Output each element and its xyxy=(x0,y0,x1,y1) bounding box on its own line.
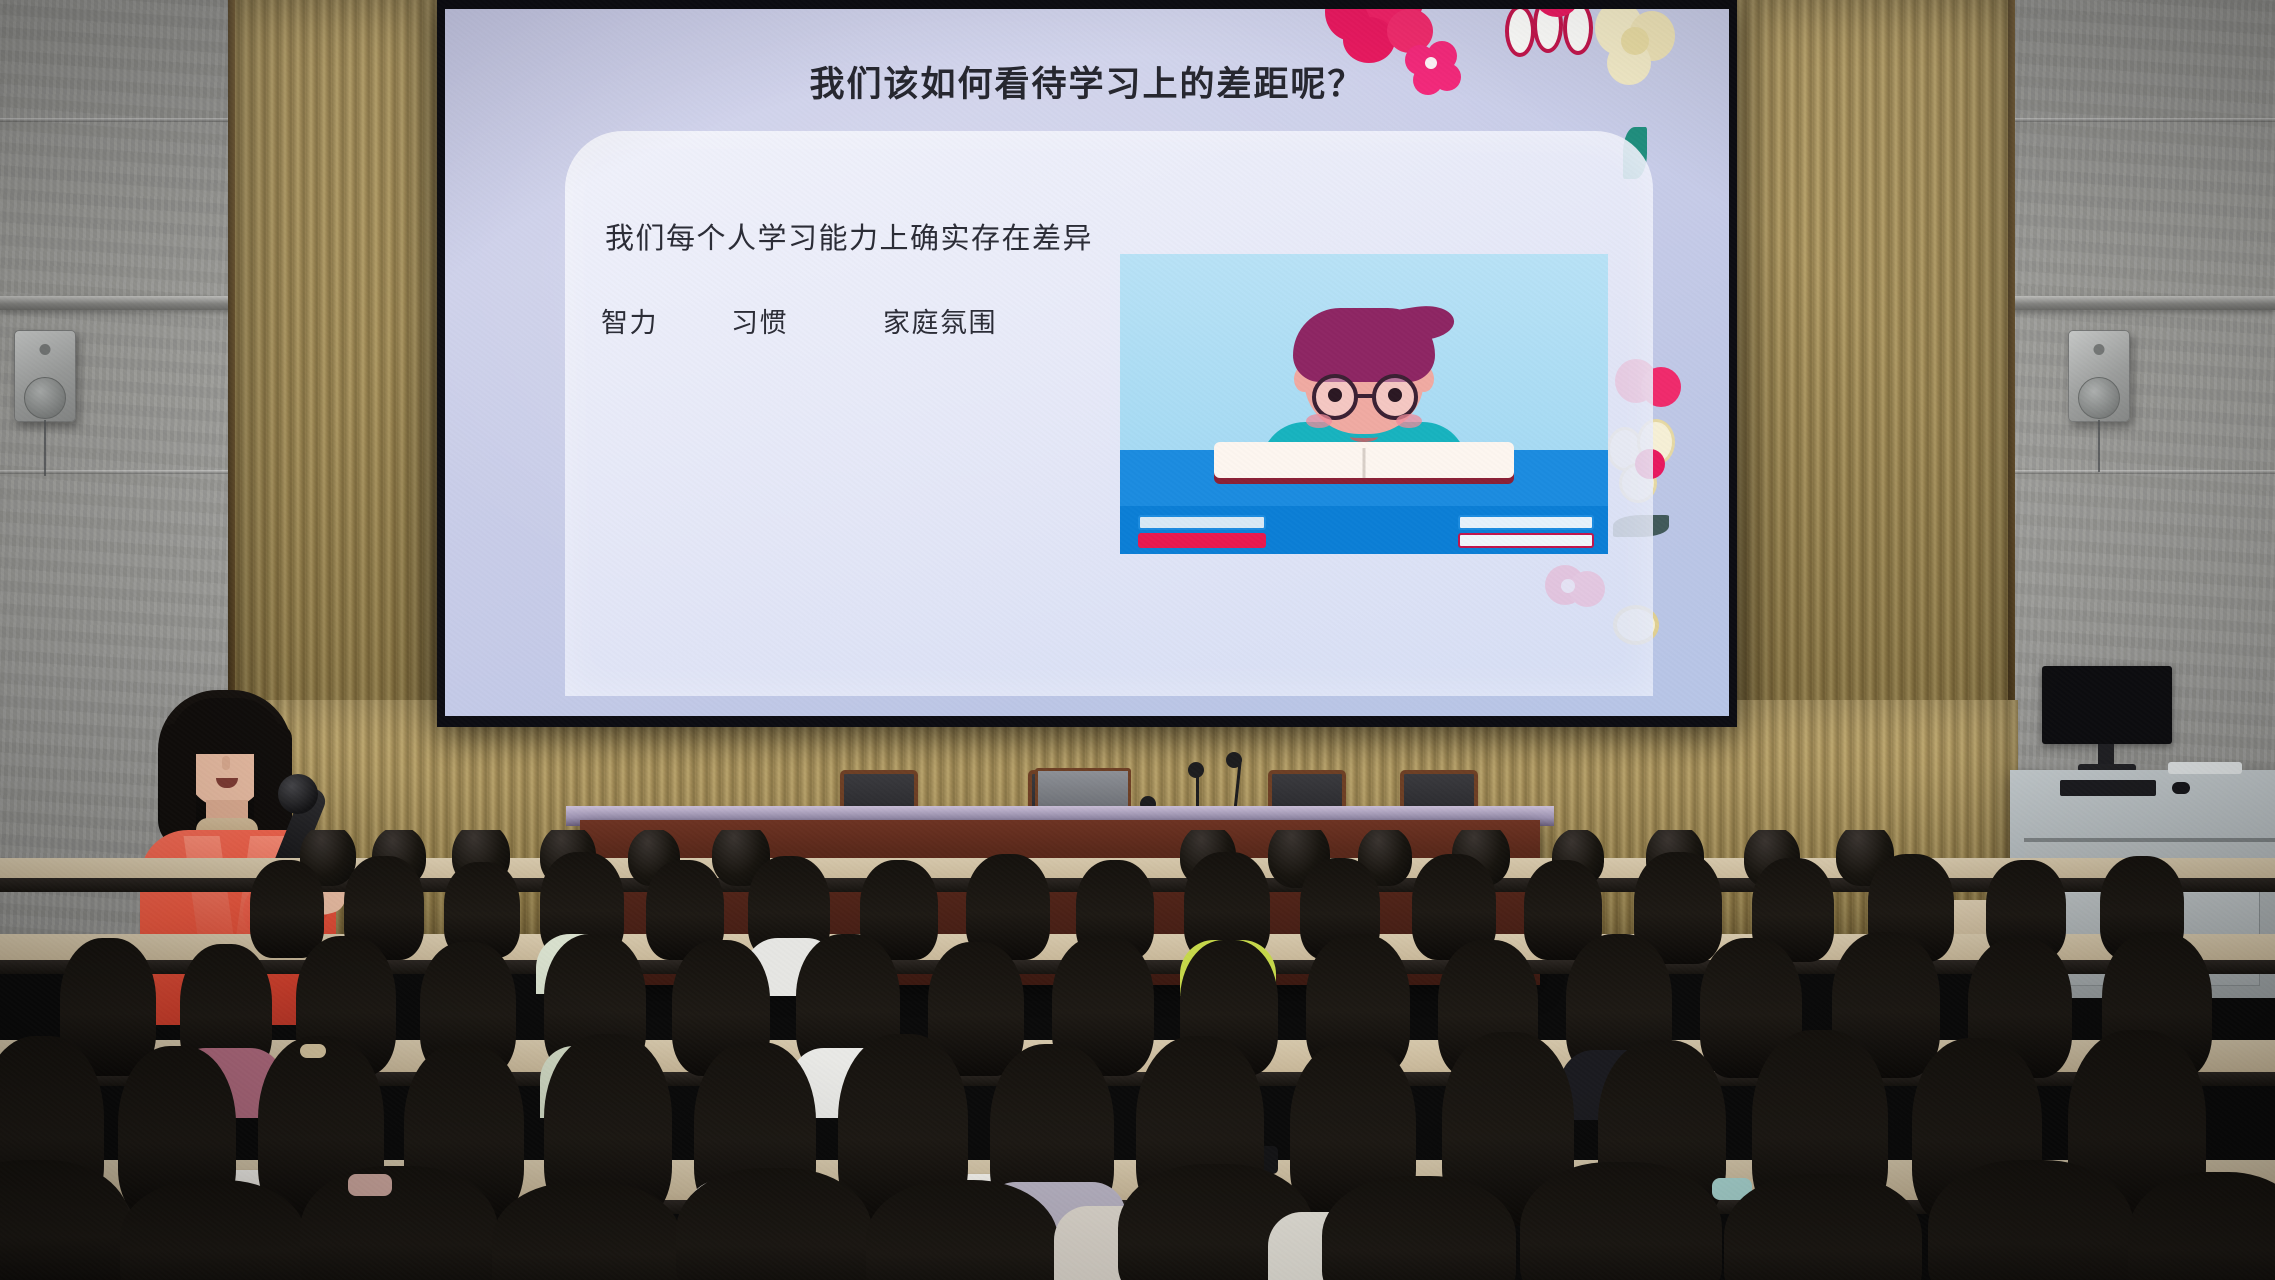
speaker-cone-icon xyxy=(24,377,66,419)
mouse xyxy=(2172,782,2190,794)
wood-slat-wall-right xyxy=(1735,0,2015,770)
speaker-cone-icon xyxy=(2078,377,2120,419)
slide-keyword-habit: 习惯 xyxy=(731,301,788,340)
hair-scrunchie xyxy=(300,1044,326,1058)
hair-scrunchie xyxy=(348,1174,392,1196)
cartoon-eye-right xyxy=(1388,388,1402,402)
speaker-cable xyxy=(2098,420,2100,472)
presenter-nose xyxy=(222,756,230,770)
student-hair xyxy=(676,1168,872,1280)
slide-keyword-intelligence: 智力 xyxy=(601,301,658,340)
cartoon-mouth xyxy=(1350,432,1378,442)
wood-slat-wall-left xyxy=(228,0,440,790)
student-hair xyxy=(1322,1176,1516,1280)
cable-box xyxy=(2168,762,2242,774)
handheld-microphone-head xyxy=(278,774,318,814)
speaker-tweeter-icon xyxy=(2094,344,2105,355)
slide-title: 我们该如何看待学习上的差距呢？ xyxy=(445,56,1729,107)
speaker-cable xyxy=(44,420,46,476)
glasses-bridge xyxy=(1357,394,1373,398)
student-audience xyxy=(0,830,2275,1280)
boom-microphone-head xyxy=(1226,752,1242,768)
student-hair xyxy=(1928,1160,2134,1280)
presentation-slide: 我们该如何看待学习上的差距呢？ 我们每个人学习能力上确实存在差异 智力 习惯 家… xyxy=(445,9,1729,716)
monitor-stand-neck xyxy=(2098,744,2114,766)
student-hair xyxy=(120,1180,306,1280)
student-hair xyxy=(866,1180,1058,1280)
book-stack-left xyxy=(1138,512,1266,548)
student-hair xyxy=(1520,1162,1722,1280)
control-desk-monitor xyxy=(2042,666,2172,744)
student-hair xyxy=(1724,1174,1922,1280)
speaker-tweeter-icon xyxy=(40,344,51,355)
wall-speaker-right xyxy=(2068,330,2130,422)
cartoon-hair-sweep xyxy=(1390,301,1457,344)
student-hair xyxy=(250,860,324,958)
student-at-desk-illustration xyxy=(1120,254,1608,554)
cartoon-cheek-left xyxy=(1306,414,1332,428)
wall-speaker-left xyxy=(14,330,76,422)
student-hair xyxy=(300,1166,498,1280)
lecture-hall-photo: 我们该如何看待学习上的差距呢？ 我们每个人学习能力上确实存在差异 智力 习惯 家… xyxy=(0,0,2275,1280)
projection-screen: 我们该如何看待学习上的差距呢？ 我们每个人学习能力上确实存在差异 智力 习惯 家… xyxy=(437,0,1737,727)
book-stack-right xyxy=(1458,512,1594,548)
slide-body-line: 我们每个人学习能力上确实存在差异 xyxy=(605,215,1093,257)
keyboard xyxy=(2060,780,2156,796)
open-book-icon xyxy=(1214,442,1514,478)
cartoon-cheek-right xyxy=(1396,414,1422,428)
cartoon-eye-left xyxy=(1328,388,1342,402)
presenter-hair-left xyxy=(160,724,196,844)
student-hair xyxy=(492,1182,682,1280)
slide-keyword-family: 家庭氛围 xyxy=(883,301,997,340)
